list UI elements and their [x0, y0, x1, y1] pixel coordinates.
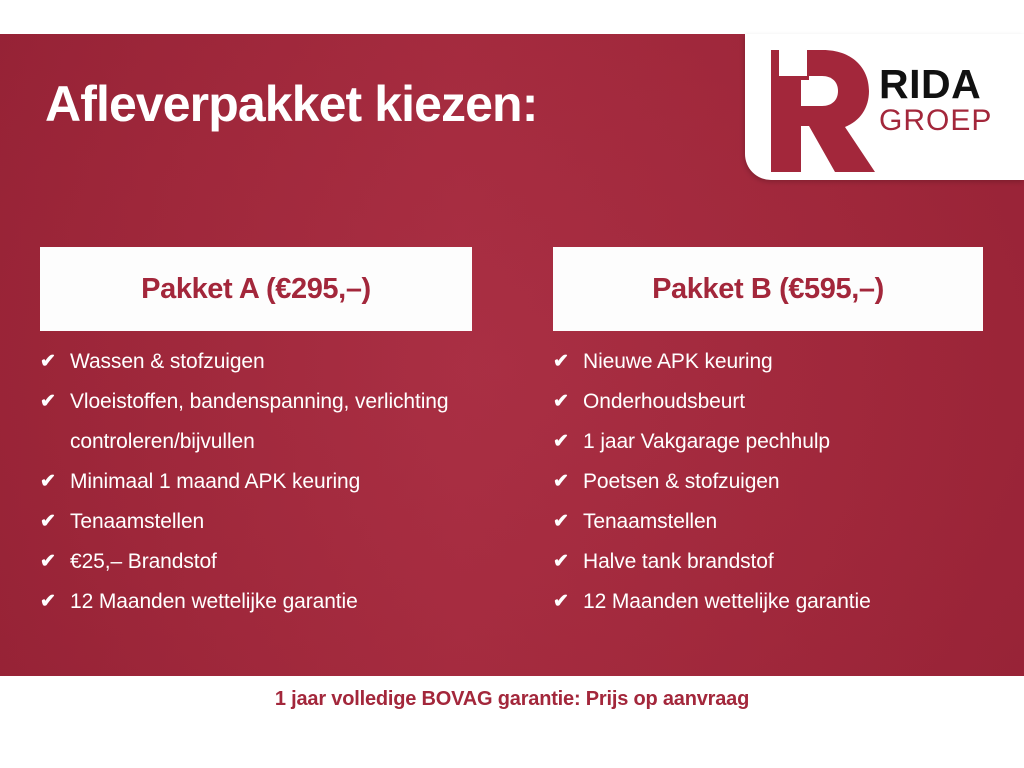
list-item-label: 12 Maanden wettelijke garantie: [583, 582, 1003, 622]
list-item-label: 1 jaar Vakgarage pechhulp: [583, 422, 1003, 462]
pakket-b-header[interactable]: Pakket B (€595,–): [553, 247, 983, 331]
list-item: ✔ Poetsen & stofzuigen: [553, 462, 1003, 502]
pakket-a-header[interactable]: Pakket A (€295,–): [40, 247, 472, 331]
list-item-label: Tenaamstellen: [583, 502, 1003, 542]
list-item: ✔ Tenaamstellen: [40, 502, 510, 542]
check-icon: ✔: [553, 422, 583, 462]
check-icon: ✔: [553, 462, 583, 502]
check-icon: ✔: [553, 542, 583, 582]
rida-r-mark-icon: [765, 46, 877, 172]
brand-subname: GROEP: [879, 105, 1019, 137]
check-icon: ✔: [40, 342, 70, 382]
list-item-label: €25,– Brandstof: [70, 542, 510, 582]
list-item: ✔ Halve tank brandstof: [553, 542, 1003, 582]
check-icon: ✔: [40, 462, 70, 502]
check-icon: ✔: [40, 382, 70, 422]
check-icon: ✔: [40, 502, 70, 542]
list-item-label: Nieuwe APK keuring: [583, 342, 1003, 382]
slide-canvas: Afleverpakket kiezen: RIDA GROEP Pakket …: [0, 0, 1024, 768]
list-item-label: Tenaamstellen: [70, 502, 510, 542]
list-item-label: 12 Maanden wettelijke garantie: [70, 582, 510, 622]
list-item-label: Onderhoudsbeurt: [583, 382, 1003, 422]
list-item: ✔ Vloeistoffen, bandenspanning, verlicht…: [40, 382, 510, 462]
list-item: ✔ 1 jaar Vakgarage pechhulp: [553, 422, 1003, 462]
check-icon: ✔: [553, 502, 583, 542]
list-item-label: Halve tank brandstof: [583, 542, 1003, 582]
brand-wordmark: RIDA GROEP: [879, 64, 1019, 137]
pakket-b-feature-list: ✔ Nieuwe APK keuring ✔ Onderhoudsbeurt ✔…: [553, 342, 1003, 622]
list-item: ✔ Tenaamstellen: [553, 502, 1003, 542]
list-item: ✔ Minimaal 1 maand APK keuring: [40, 462, 510, 502]
brand-name: RIDA: [879, 64, 1019, 104]
list-item-label: Vloeistoffen, bandenspanning, verlichtin…: [70, 382, 510, 462]
pakket-b-title: Pakket B (€595,–): [652, 273, 884, 306]
list-item-label: Poetsen & stofzuigen: [583, 462, 1003, 502]
list-item-label: Wassen & stofzuigen: [70, 342, 510, 382]
check-icon: ✔: [553, 382, 583, 422]
list-item-label: Minimaal 1 maand APK keuring: [70, 462, 510, 502]
brand-logo: RIDA GROEP: [745, 34, 1024, 180]
list-item: ✔ Onderhoudsbeurt: [553, 382, 1003, 422]
list-item: ✔ Nieuwe APK keuring: [553, 342, 1003, 382]
page-title: Afleverpakket kiezen:: [45, 78, 537, 131]
footer-bar: 1 jaar volledige BOVAG garantie: Prijs o…: [0, 676, 1024, 768]
pakket-a-title: Pakket A (€295,–): [141, 273, 371, 306]
check-icon: ✔: [40, 582, 70, 622]
list-item: ✔ €25,– Brandstof: [40, 542, 510, 582]
list-item: ✔ 12 Maanden wettelijke garantie: [40, 582, 510, 622]
check-icon: ✔: [553, 342, 583, 382]
list-item: ✔ 12 Maanden wettelijke garantie: [553, 582, 1003, 622]
check-icon: ✔: [553, 582, 583, 622]
brand-logo-plate: RIDA GROEP: [745, 34, 1024, 180]
list-item: ✔ Wassen & stofzuigen: [40, 342, 510, 382]
footer-note: 1 jaar volledige BOVAG garantie: Prijs o…: [0, 688, 1024, 711]
pakket-a-feature-list: ✔ Wassen & stofzuigen ✔ Vloeistoffen, ba…: [40, 342, 510, 622]
check-icon: ✔: [40, 542, 70, 582]
